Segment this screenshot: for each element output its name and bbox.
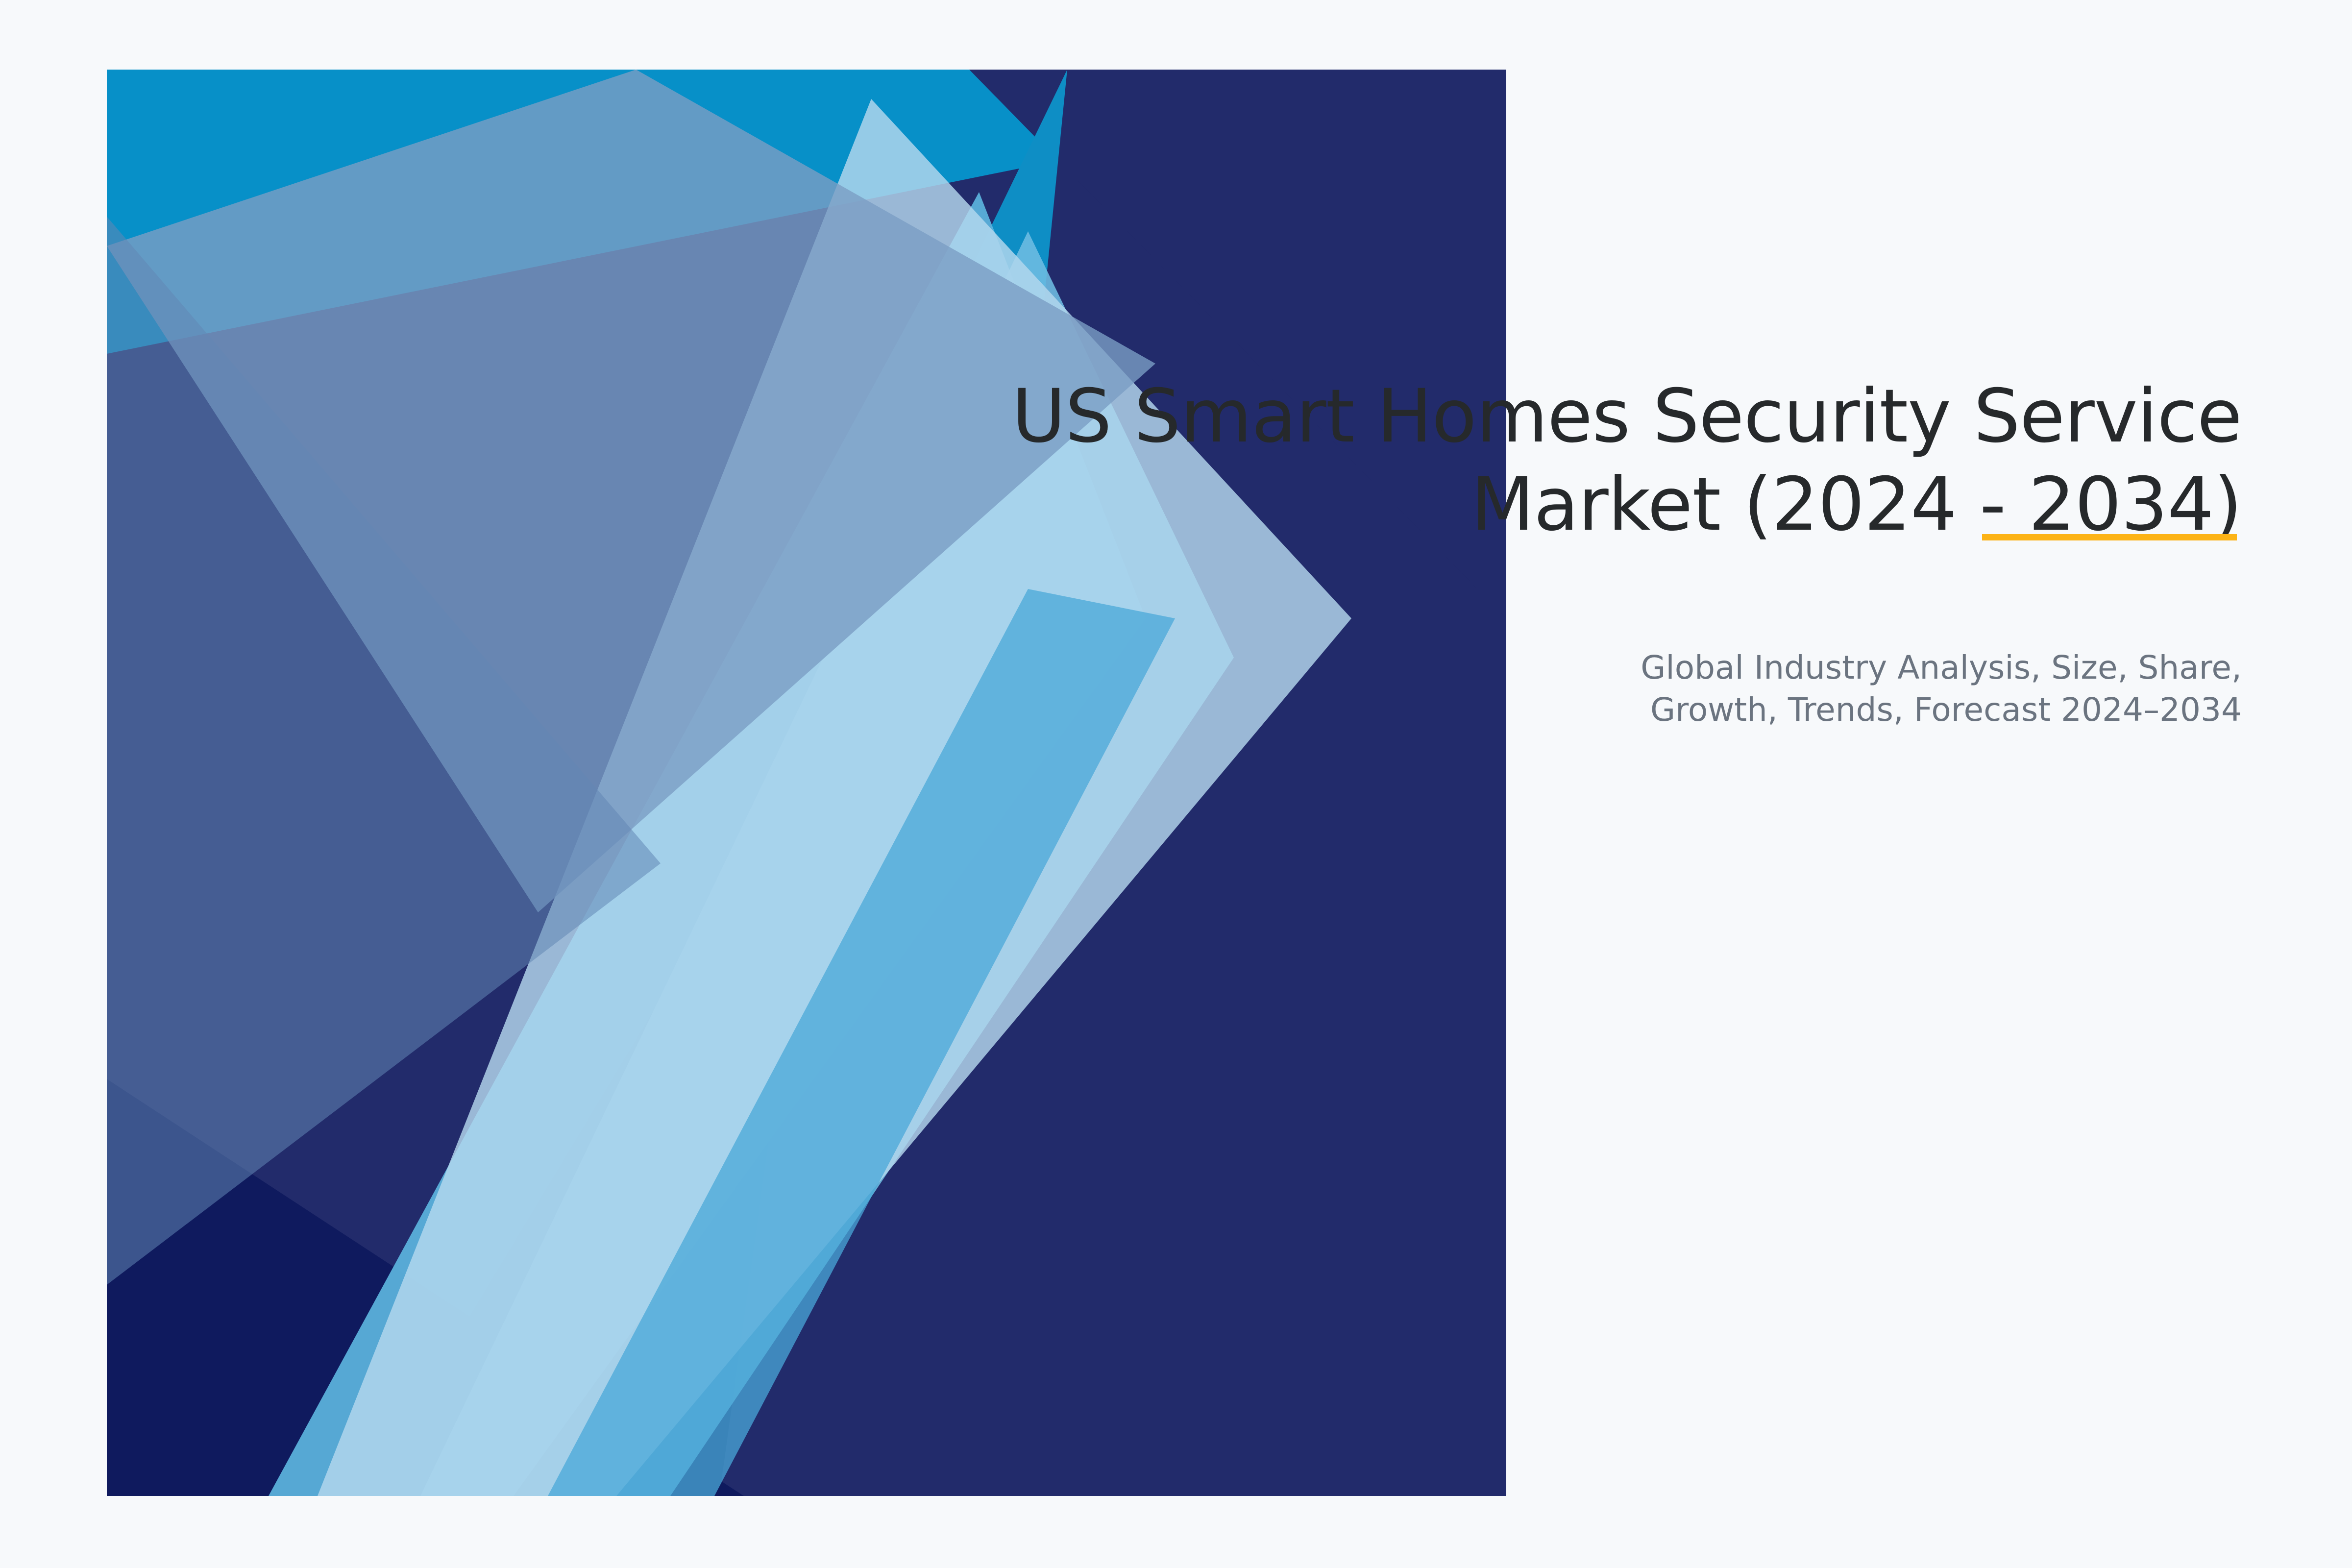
title-underline-accent-icon (1982, 534, 2237, 540)
page-subtitle: Global Industry Analysis, Size, Share, G… (870, 549, 2242, 731)
title-wrap: US Smart Homes Security Service Market (… (870, 372, 2242, 549)
abstract-geometric-artwork (107, 70, 1506, 1496)
page-title: US Smart Homes Security Service Market (… (870, 372, 2242, 549)
report-cover: US Smart Homes Security Service Market (… (0, 0, 2352, 1568)
artwork-svg (107, 70, 1506, 1496)
cover-text-block: US Smart Homes Security Service Market (… (870, 372, 2242, 731)
